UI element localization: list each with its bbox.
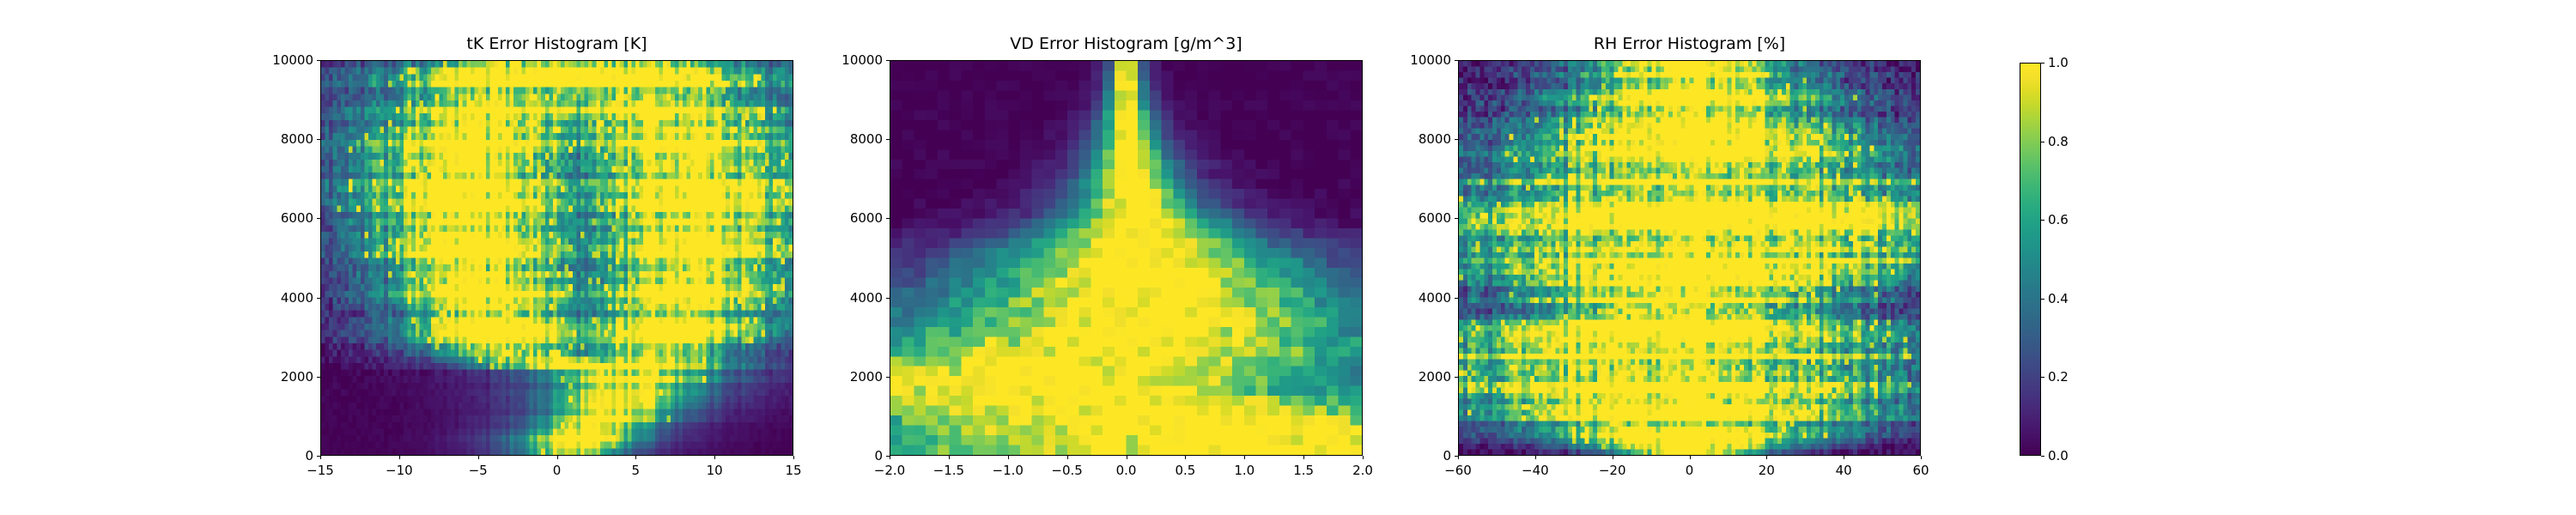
figure-canvas: tK Error Histogram [K] VD Error Histogra… — [0, 0, 2576, 515]
xtick-mark-vd-5 — [1185, 456, 1186, 459]
panel-rh-error-histogram: RH Error Histogram [%] — [1458, 0, 1921, 515]
colorbar-tick-label-0: 0.0 — [2048, 448, 2069, 463]
xtick-mark-vd-6 — [1244, 456, 1245, 459]
colorbar-tick-label-3: 0.6 — [2048, 212, 2069, 227]
panel-title-rh: RH Error Histogram [%] — [1458, 34, 1921, 53]
xtick-mark-tk-5 — [714, 456, 715, 459]
ytick-mark-rh-3 — [1455, 218, 1458, 219]
heatmap-axes-vd — [890, 60, 1363, 456]
ytick-label-rh-2: 4000 — [1406, 290, 1451, 306]
xtick-mark-rh-5 — [1844, 456, 1844, 459]
xtick-label-rh-2: −20 — [1599, 463, 1626, 478]
ytick-mark-vd-0 — [886, 456, 890, 457]
xtick-mark-vd-1 — [949, 456, 950, 459]
xtick-mark-rh-1 — [1535, 456, 1536, 459]
xtick-label-rh-5: 40 — [1836, 463, 1852, 478]
xtick-mark-tk-0 — [320, 456, 321, 459]
xtick-mark-tk-4 — [635, 456, 636, 459]
colorbar-tick-label-1: 0.2 — [2048, 369, 2069, 385]
heatmap-image-vd — [890, 61, 1362, 455]
xtick-label-tk-6: 15 — [785, 463, 801, 478]
heatmap-image-tk — [321, 61, 793, 455]
xtick-mark-rh-2 — [1613, 456, 1613, 459]
ytick-mark-tk-5 — [317, 60, 320, 61]
ytick-label-tk-2: 4000 — [269, 290, 313, 306]
colorbar-tick-label-4: 0.8 — [2048, 134, 2069, 149]
xtick-label-rh-6: 60 — [1912, 463, 1929, 478]
xtick-label-vd-6: 1.0 — [1234, 463, 1255, 478]
ytick-label-tk-5: 10000 — [269, 52, 313, 68]
ytick-label-vd-4: 8000 — [838, 131, 883, 147]
xtick-mark-rh-6 — [1921, 456, 1922, 459]
ytick-label-tk-0: 0 — [269, 448, 313, 463]
xtick-label-tk-2: −5 — [469, 463, 488, 478]
xtick-label-tk-4: 5 — [632, 463, 641, 478]
panel-title-tk: tK Error Histogram [K] — [320, 34, 793, 53]
xtick-mark-tk-2 — [478, 456, 479, 459]
colorbar — [2020, 63, 2041, 456]
colorbar-tick-mark-2 — [2041, 299, 2044, 300]
xtick-mark-rh-3 — [1690, 456, 1691, 459]
ytick-label-vd-3: 6000 — [838, 210, 883, 226]
ytick-label-tk-4: 8000 — [269, 131, 313, 147]
ytick-mark-rh-5 — [1455, 60, 1458, 61]
xtick-label-vd-4: 0.0 — [1116, 463, 1137, 478]
ytick-label-rh-0: 0 — [1406, 448, 1451, 463]
xtick-mark-vd-2 — [1008, 456, 1009, 459]
ytick-label-rh-1: 2000 — [1406, 369, 1451, 385]
heatmap-axes-tk — [320, 60, 793, 456]
xtick-label-rh-3: 0 — [1686, 463, 1694, 478]
colorbar-tick-mark-3 — [2041, 220, 2044, 221]
ytick-mark-rh-2 — [1455, 298, 1458, 299]
xtick-mark-tk-1 — [399, 456, 400, 459]
ytick-mark-rh-4 — [1455, 139, 1458, 140]
colorbar-tick-label-5: 1.0 — [2048, 55, 2069, 70]
ytick-mark-tk-3 — [317, 218, 320, 219]
colorbar-tick-mark-1 — [2041, 377, 2044, 378]
panel-title-vd: VD Error Histogram [g/m^3] — [890, 34, 1363, 53]
ytick-mark-tk-2 — [317, 298, 320, 299]
xtick-label-tk-0: −15 — [307, 463, 334, 478]
xtick-mark-tk-3 — [557, 456, 558, 459]
xtick-mark-vd-0 — [890, 456, 890, 459]
ytick-mark-vd-3 — [886, 218, 890, 219]
ytick-mark-vd-5 — [886, 60, 890, 61]
ytick-mark-tk-4 — [317, 139, 320, 140]
ytick-label-rh-3: 6000 — [1406, 210, 1451, 226]
colorbar-tick-mark-4 — [2041, 142, 2044, 142]
panel-vd-error-histogram: VD Error Histogram [g/m^3] — [890, 0, 1363, 515]
ytick-mark-vd-1 — [886, 377, 890, 378]
xtick-label-vd-5: 0.5 — [1175, 463, 1195, 478]
xtick-mark-rh-0 — [1458, 456, 1459, 459]
ytick-label-vd-1: 2000 — [838, 369, 883, 385]
xtick-mark-vd-7 — [1303, 456, 1304, 459]
ytick-mark-vd-2 — [886, 298, 890, 299]
xtick-label-rh-0: −60 — [1444, 463, 1472, 478]
xtick-mark-tk-6 — [793, 456, 794, 459]
xtick-label-vd-2: −1.0 — [993, 463, 1024, 478]
ytick-label-tk-1: 2000 — [269, 369, 313, 385]
ytick-label-tk-3: 6000 — [269, 210, 313, 226]
xtick-label-vd-1: −1.5 — [933, 463, 964, 478]
ytick-mark-tk-0 — [317, 456, 320, 457]
ytick-label-vd-5: 10000 — [838, 52, 883, 68]
xtick-mark-vd-4 — [1127, 456, 1127, 459]
ytick-mark-rh-0 — [1455, 456, 1458, 457]
xtick-label-vd-8: 2.0 — [1352, 463, 1373, 478]
xtick-label-tk-3: 0 — [553, 463, 562, 478]
ytick-label-vd-0: 0 — [838, 448, 883, 463]
colorbar-gradient — [2020, 64, 2040, 455]
xtick-label-vd-7: 1.5 — [1293, 463, 1314, 478]
xtick-label-rh-4: 20 — [1759, 463, 1775, 478]
heatmap-image-rh — [1459, 61, 1920, 455]
ytick-label-rh-4: 8000 — [1406, 131, 1451, 147]
xtick-mark-vd-3 — [1067, 456, 1068, 459]
xtick-label-tk-5: 10 — [707, 463, 723, 478]
xtick-label-vd-0: −2.0 — [874, 463, 905, 478]
ytick-mark-rh-1 — [1455, 377, 1458, 378]
xtick-label-vd-3: −0.5 — [1051, 463, 1082, 478]
ytick-mark-vd-4 — [886, 139, 890, 140]
xtick-mark-rh-4 — [1766, 456, 1767, 459]
colorbar-tick-mark-0 — [2041, 456, 2044, 457]
heatmap-axes-rh — [1458, 60, 1921, 456]
xtick-label-tk-1: −10 — [386, 463, 413, 478]
panel-tk-error-histogram: tK Error Histogram [K] — [320, 0, 793, 515]
colorbar-tick-mark-5 — [2041, 63, 2044, 64]
colorbar-tick-label-2: 0.4 — [2048, 291, 2069, 306]
xtick-mark-vd-8 — [1363, 456, 1364, 459]
xtick-label-rh-1: −40 — [1522, 463, 1549, 478]
ytick-mark-tk-1 — [317, 377, 320, 378]
ytick-label-rh-5: 10000 — [1406, 52, 1451, 68]
ytick-label-vd-2: 4000 — [838, 290, 883, 306]
